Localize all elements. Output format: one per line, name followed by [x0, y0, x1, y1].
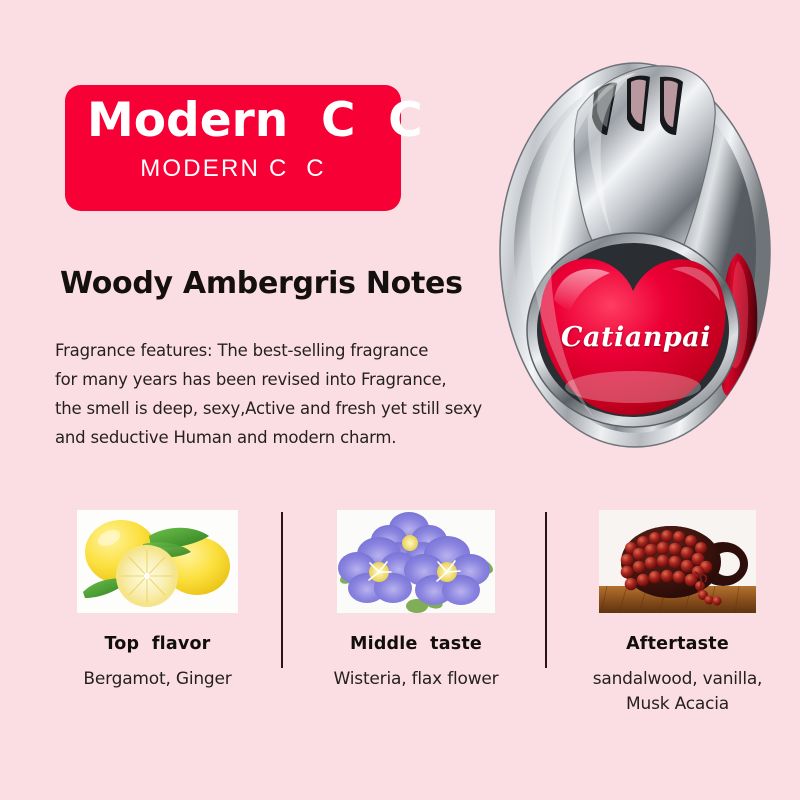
product-image: C A R [470, 55, 800, 505]
description-line-1: Fragrance features: The best-selling fra… [55, 336, 525, 365]
description-line-4: and seductive Human and modern charm. [55, 423, 525, 452]
product-infographic: Modern C C MODERN C C Woody Ambergris No… [0, 0, 800, 800]
note-label-top-flavor: Top flavor [55, 634, 260, 654]
flax-flowers-illustration [337, 510, 495, 613]
description-line-3: the smell is deep, sexy,Active and fresh… [55, 394, 525, 423]
note-desc-aftertaste: sandalwood, vanilla, Musk Acacia [575, 667, 780, 717]
sandalwood-beads-illustration [599, 510, 756, 613]
flax-flowers-photo [337, 510, 495, 613]
sandalwood-beads-photo [599, 510, 756, 613]
note-label-middle-taste: Middle taste [315, 634, 517, 654]
lemons-photo [77, 510, 238, 613]
page-title: Woody Ambergris Notes [60, 266, 463, 301]
lemons-illustration [77, 510, 238, 613]
note-column-middle-taste: Middle taste Wisteria, flax flower [315, 500, 517, 692]
note-label-aftertaste: Aftertaste [575, 634, 780, 654]
liquid-highlight-bottom [565, 371, 701, 403]
brand-badge: Modern C C MODERN C C [65, 85, 401, 211]
air-freshener-illustration [470, 55, 800, 505]
brand-subtitle: MODERN C C [65, 155, 401, 183]
column-divider-1 [281, 512, 283, 668]
brand-title: Modern C C [87, 91, 387, 151]
fragrance-description: Fragrance features: The best-selling fra… [55, 336, 525, 452]
note-desc-top-flavor: Bergamot, Ginger [55, 667, 260, 692]
description-line-2: for many years has been revised into Fra… [55, 365, 525, 394]
fragrance-notes-section: Top flavor Bergamot, Ginger [0, 500, 800, 730]
note-column-aftertaste: Aftertaste sandalwood, vanilla, Musk Aca… [575, 500, 780, 717]
note-desc-middle-taste: Wisteria, flax flower [315, 667, 517, 692]
column-divider-2 [545, 512, 547, 668]
note-column-top-flavor: Top flavor Bergamot, Ginger [55, 500, 260, 692]
